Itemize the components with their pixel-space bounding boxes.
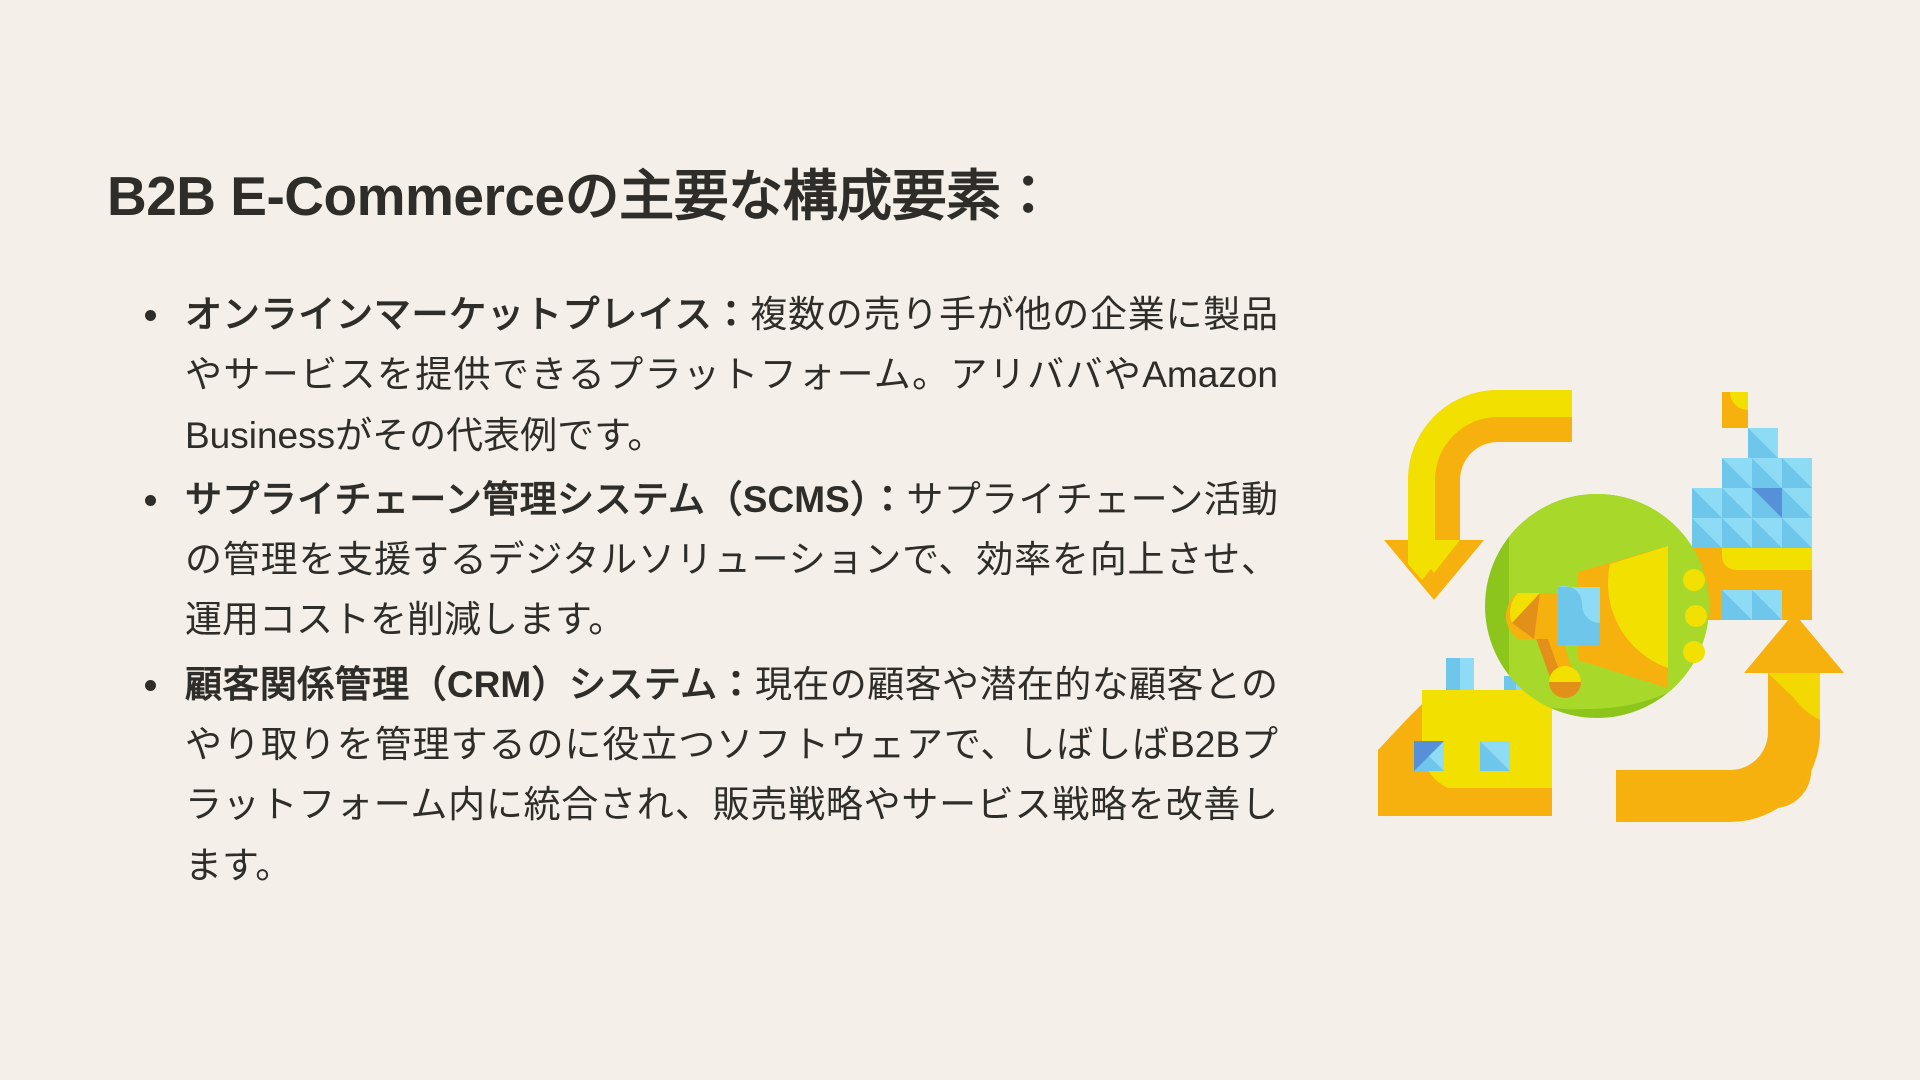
- bullet-dot-icon: [145, 680, 156, 691]
- bullet-dot-icon: [145, 495, 156, 506]
- presentation-slide: B2B E-Commerceの主要な構成要素： オンラインマーケットプレイス：複…: [0, 0, 1920, 1080]
- key-components-list: オンラインマーケットプレイス：複数の売り手が他の企業に製品やサービスを提供できる…: [133, 285, 1278, 900]
- list-item: オンラインマーケットプレイス：複数の売り手が他の企業に製品やサービスを提供できる…: [133, 285, 1278, 466]
- list-item: サプライチェーン管理システム（SCMS）：サプライチェーン活動の管理を支援するデ…: [133, 470, 1278, 651]
- megaphone-badge: [1485, 494, 1709, 718]
- list-item-lead: オンラインマーケットプレイス：: [185, 294, 750, 335]
- list-item: 顧客関係管理（CRM）システム：現在の顧客や潜在的な顧客とのやり取りを管理するの…: [133, 655, 1278, 896]
- page-title: B2B E-Commerceの主要な構成要素：: [107, 163, 1287, 230]
- list-item-lead: 顧客関係管理（CRM）システム：: [185, 664, 755, 705]
- stacked-crates-icon: [1692, 392, 1812, 620]
- supply-chain-cycle-icon: [1378, 368, 1854, 844]
- list-item-lead: サプライチェーン管理システム（SCMS）：: [185, 479, 906, 520]
- bullet-dot-icon: [145, 310, 156, 321]
